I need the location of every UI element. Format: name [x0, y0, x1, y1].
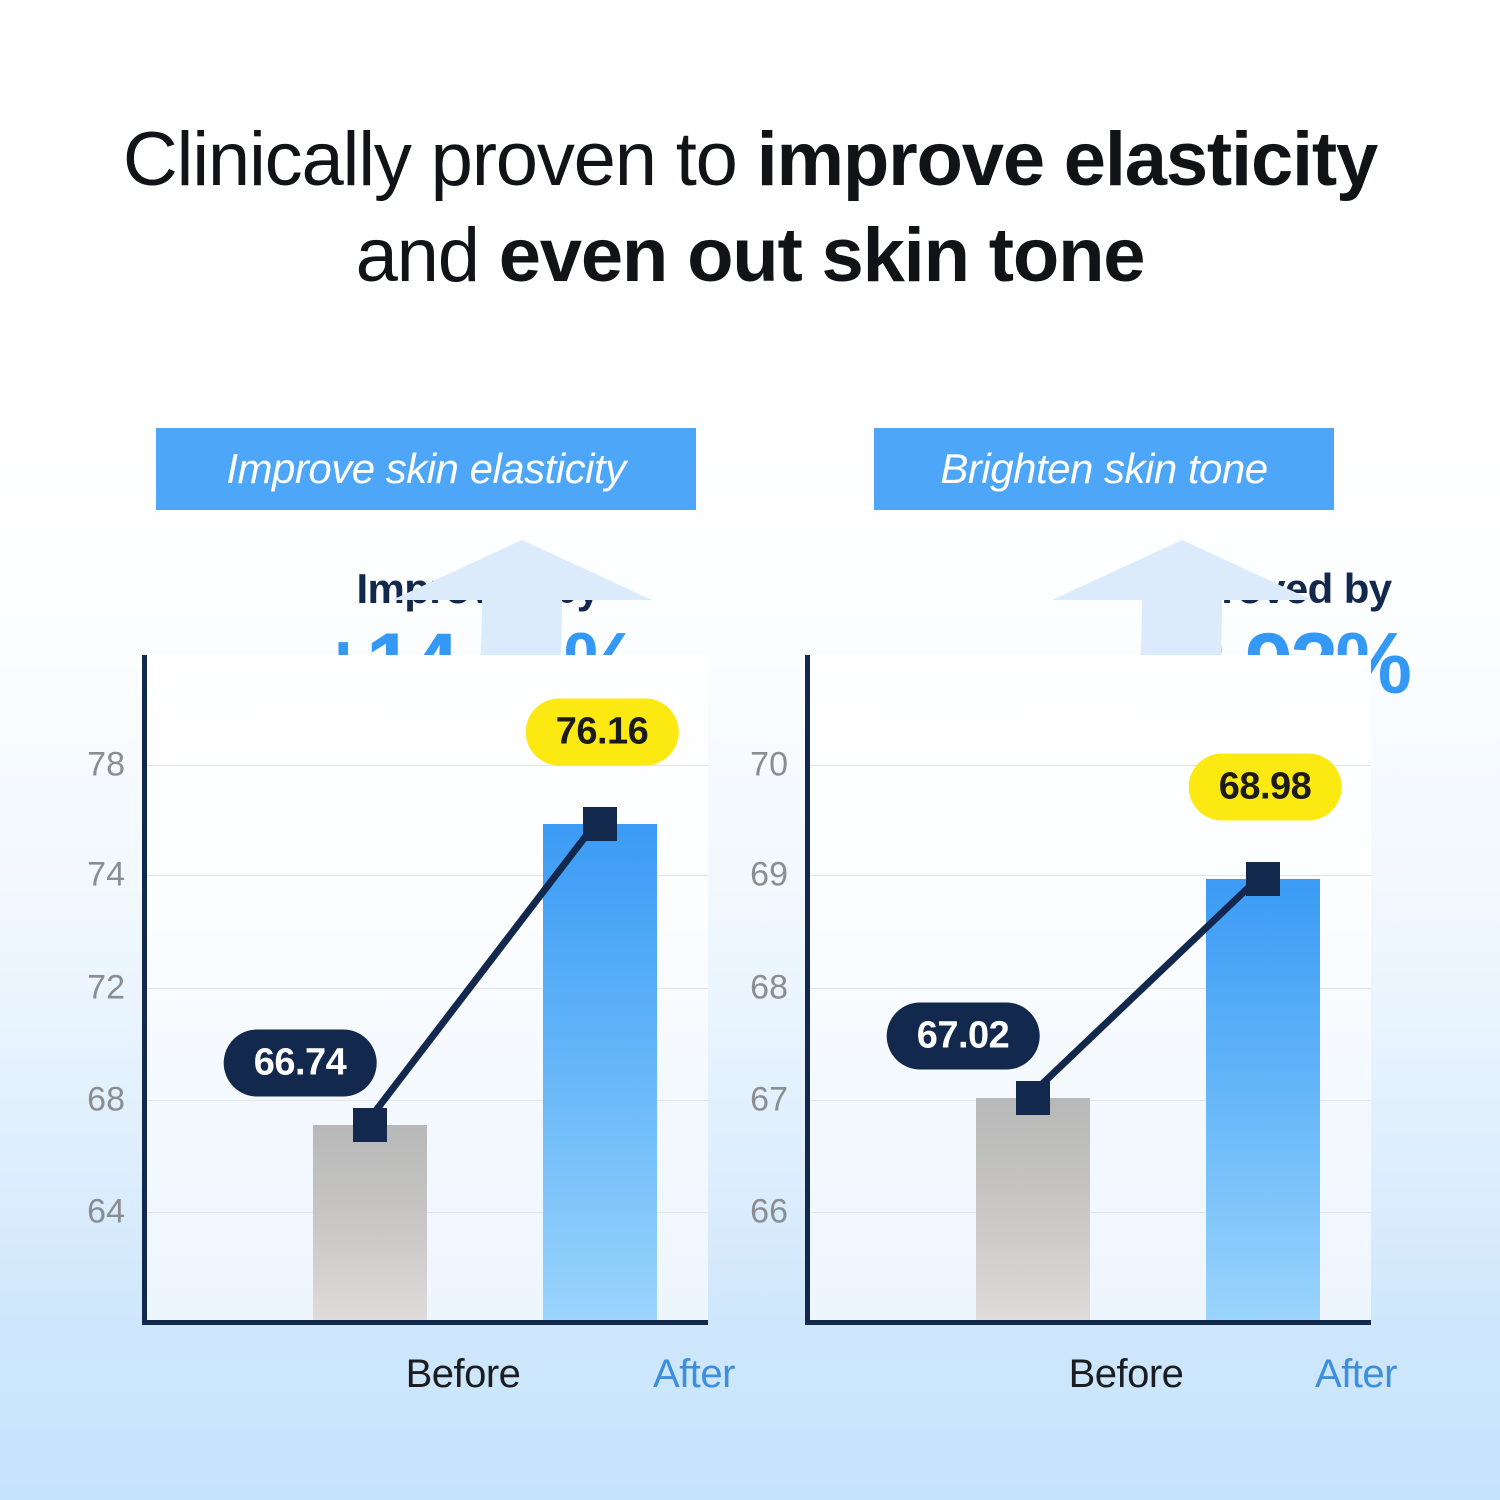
y-axis-tick-label: 70: [750, 746, 788, 785]
improved-by-label: Improved by: [1040, 568, 1500, 610]
improved-by-label: Improved by: [248, 568, 708, 610]
y-axis-tick-label: 68: [87, 1081, 125, 1120]
data-point-marker: [353, 1108, 387, 1142]
value-label-before: 66.74: [224, 1029, 377, 1096]
plot-area-tone: 706968676667.0268.98: [805, 655, 1371, 1325]
x-axis-label-before: Before: [1069, 1352, 1184, 1397]
chart-title-banner-tone: Brighten skin tone: [874, 428, 1334, 510]
x-axis-label-after: After: [653, 1352, 735, 1397]
y-axis-tick-label: 72: [87, 969, 125, 1008]
plot-area-elasticity: 787472686466.7476.16: [142, 655, 708, 1325]
y-axis-tick-label: 64: [87, 1193, 125, 1232]
chart-panel-elasticity: Improve skin elasticity Improved by +14.…: [0, 0, 750, 1500]
value-label-before: 67.02: [887, 1003, 1040, 1070]
value-label-after: 76.16: [526, 698, 679, 765]
chart-title-banner-elasticity: Improve skin elasticity: [156, 428, 696, 510]
y-axis-tick-label: 78: [87, 746, 125, 785]
y-axis-tick-label: 68: [750, 969, 788, 1008]
y-axis-tick-label: 69: [750, 856, 788, 895]
y-axis-tick-label: 66: [750, 1193, 788, 1232]
data-point-marker: [583, 807, 617, 841]
y-axis-tick-label: 67: [750, 1081, 788, 1120]
x-axis-label-before: Before: [406, 1352, 521, 1397]
x-axis-label-after: After: [1315, 1352, 1397, 1397]
data-point-marker: [1016, 1081, 1050, 1115]
chart-panel-tone: Brighten skin tone Improved by +2.92% 70…: [750, 0, 1500, 1500]
value-label-after: 68.98: [1189, 753, 1342, 820]
data-point-marker: [1246, 862, 1280, 896]
y-axis-tick-label: 74: [87, 856, 125, 895]
